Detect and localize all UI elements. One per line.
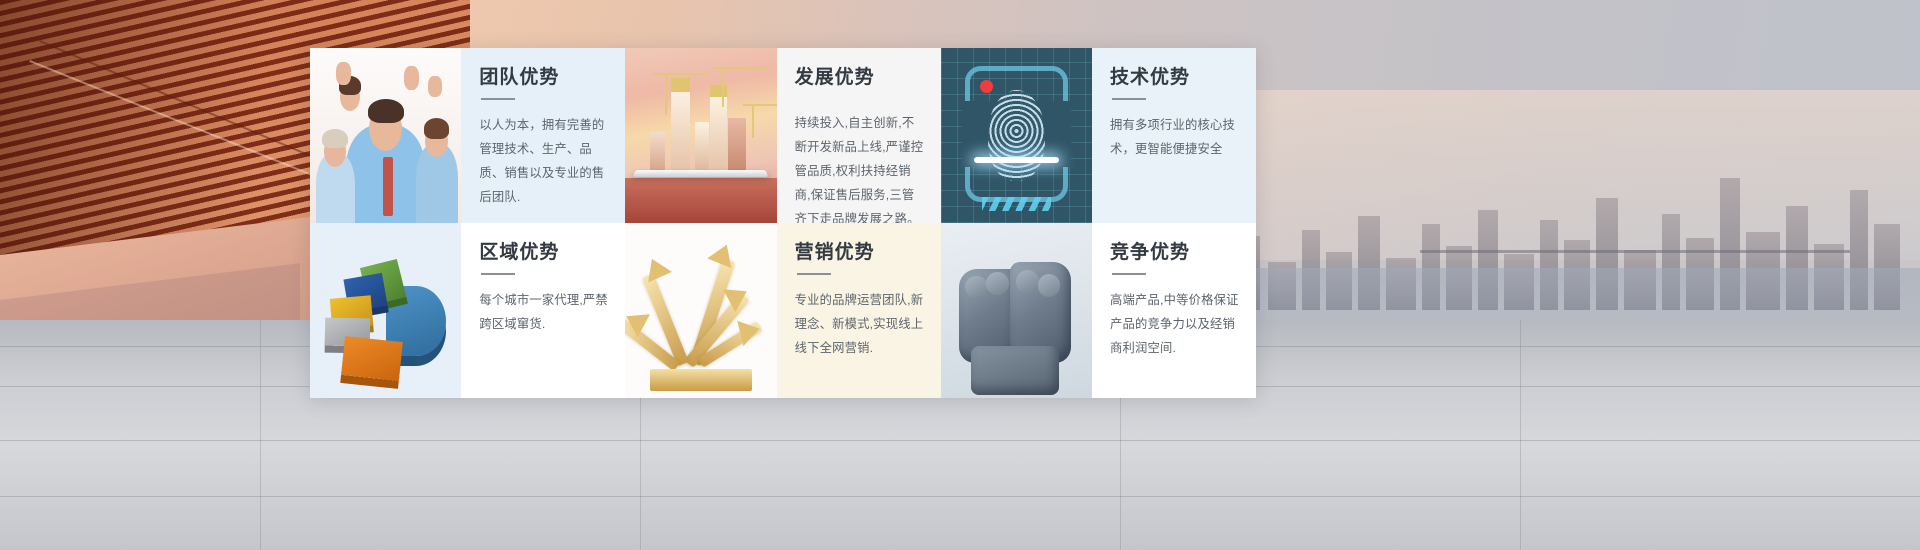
arm-wrestling-fists-photo (941, 223, 1092, 398)
title-rule (481, 273, 515, 275)
chevron-arrows-icon (982, 197, 1052, 211)
card-team-advantage[interactable]: 团队优势 以人为本，拥有完善的管理技术、生产、品质、销售以及专业的售后团队. (310, 48, 625, 223)
card-marketing-advantage[interactable]: 营销优势 专业的品牌运营团队,新理念、新模式,实现线上线下全网营销. (625, 223, 940, 398)
card-technology-advantage[interactable]: 技术优势 拥有多项行业的核心技术，更智能便捷安全 (941, 48, 1256, 223)
title-rule (1112, 98, 1146, 100)
card-description: 高端产品,中等价格保证产品的竞争力以及经销商利润空间. (1110, 289, 1240, 361)
tablet-city-skyline-photo (625, 48, 776, 223)
status-indicator-dot (980, 80, 993, 93)
card-title: 团队优势 (479, 66, 609, 89)
title-rule (797, 273, 831, 275)
card-description: 持续投入,自主创新,不断开发新品上线,严谨控管品质,权利扶持经销商,保证售后服务… (795, 112, 925, 223)
card-description: 以人为本，拥有完善的管理技术、生产、品质、销售以及专业的售后团队. (479, 114, 609, 210)
card-title: 发展优势 (795, 66, 925, 89)
card-title: 营销优势 (795, 241, 925, 264)
card-title: 竞争优势 (1110, 241, 1240, 264)
title-rule (481, 98, 515, 100)
fingerprint-icon (988, 90, 1046, 181)
advantages-card-grid: 团队优势 以人为本，拥有完善的管理技术、生产、品质、销售以及专业的售后团队. 发… (310, 48, 1256, 398)
card-description: 专业的品牌运营团队,新理念、新模式,实现线上线下全网营销. (795, 289, 925, 361)
card-description: 拥有多项行业的核心技术，更智能便捷安全 (1110, 114, 1240, 162)
card-regional-advantage[interactable]: 区域优势 每个城市一家代理,严禁跨区域窜货. (310, 223, 625, 398)
bridge-span (1420, 250, 1850, 253)
golden-arrows-graphic (625, 223, 776, 398)
card-title: 区域优势 (479, 241, 609, 264)
card-development-advantage[interactable]: 发展优势 持续投入,自主创新,不断开发新品上线,严谨控管品质,权利扶持经销商,保… (625, 48, 940, 223)
title-rule (1112, 273, 1146, 275)
river-water (1160, 268, 1920, 328)
fingerprint-scanner-graphic (941, 48, 1092, 223)
scan-line (974, 157, 1059, 163)
cheering-business-team-photo (310, 48, 461, 223)
card-description: 每个城市一家代理,严禁跨区域窜货. (479, 289, 609, 337)
card-title: 技术优势 (1110, 66, 1240, 89)
card-competition-advantage[interactable]: 竞争优势 高端产品,中等价格保证产品的竞争力以及经销商利润空间. (941, 223, 1256, 398)
3d-regional-pie-chart (310, 223, 461, 398)
arrow-pedestal (650, 369, 753, 391)
